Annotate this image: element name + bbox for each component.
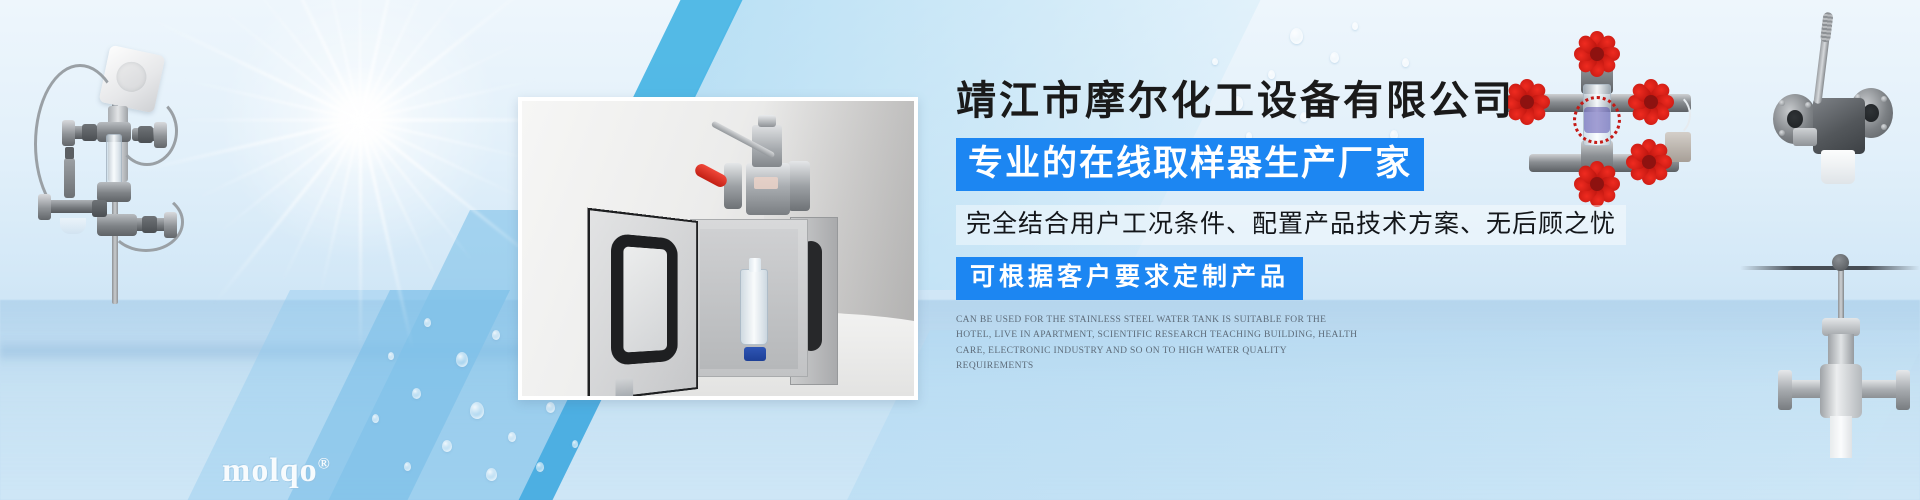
sampler-flange-4 (164, 212, 177, 238)
secondary-description: 完全结合用户工况条件、配置产品技术方案、无后顾之忧 (956, 205, 1626, 245)
sample-valve-body (1820, 364, 1862, 418)
lever-valve-bore-right (1863, 104, 1879, 122)
sampler-relief-valve (64, 158, 75, 198)
sampler-nut-2 (138, 126, 153, 143)
inline-sample-valve-graphic (1780, 258, 1920, 428)
valve-body (746, 163, 790, 215)
sampler-nut-1 (82, 124, 97, 141)
lever-valve-bolt-l2 (1805, 102, 1811, 108)
banner-text-block: 靖江市摩尔化工设备有限公司 专业的在线取样器生产厂家 完全结合用户工况条件、配置… (956, 78, 1716, 374)
valve-knob (758, 115, 776, 127)
lever-valve-body (1813, 98, 1865, 154)
company-name: 靖江市摩尔化工设备有限公司 (956, 78, 1716, 124)
handwheel-hub (1590, 47, 1604, 61)
sampler-nut-3 (92, 200, 107, 217)
sample-valve-outlet (1830, 416, 1852, 458)
lever-valve-bore-left (1787, 110, 1803, 128)
sampler-hub-lower (97, 214, 137, 236)
sample-valve-flange-left (1778, 370, 1792, 410)
primary-tagline-badge: 专业的在线取样器生产厂家 (956, 138, 1424, 191)
sampler-hub-mid (97, 182, 131, 202)
sample-valve-neck (1828, 334, 1854, 368)
lever-valve-bolt-r4 (1881, 124, 1887, 130)
sample-valve-knob (1832, 254, 1849, 271)
sampling-cabinet-photo (518, 97, 918, 400)
flanged-lever-valve-graphic (1763, 28, 1913, 208)
cabinet-door-window (611, 233, 678, 366)
promotional-banner: 靖江市摩尔化工设备有限公司 专业的在线取样器生产厂家 完全结合用户工况条件、配置… (0, 0, 1920, 500)
cabinet-door (588, 208, 698, 400)
sample-valve-shelf (1740, 266, 1920, 270)
top-sampling-valve (718, 119, 824, 231)
lever-valve-dial (1793, 128, 1817, 146)
lever-valve-cup (1821, 150, 1855, 184)
sampler-flange-3 (38, 194, 51, 220)
english-description: CAN BE USED FOR THE STAINLESS STEEL WATE… (956, 313, 1364, 375)
valve-flange-right (788, 161, 810, 211)
sample-valve-flange-right (1896, 370, 1910, 410)
sampler-nut-4 (142, 216, 157, 233)
sampler-flange-1 (62, 120, 75, 146)
pole-mounted-sampler-graphic (8, 22, 218, 302)
blue-cap (744, 347, 766, 361)
lever-valve-bolt-l3 (1779, 130, 1785, 136)
lever-valve-bolt-r2 (1881, 96, 1887, 102)
valve-flange-left (724, 163, 742, 209)
handwheel-top (1575, 32, 1619, 76)
cabinet-lock (616, 377, 634, 400)
brand-watermark: molqo® (222, 452, 331, 490)
customization-tagline-badge: 可根据客户要求定制产品 (956, 257, 1303, 300)
registered-mark-icon: ® (318, 456, 331, 473)
sample-bottle (740, 269, 768, 345)
sampler-flange-2 (154, 122, 167, 148)
valve-nameplate (754, 177, 778, 189)
watermark-text: molqo (222, 452, 318, 489)
sampler-collection-cup (60, 218, 86, 234)
lever-valve-bolt-l1 (1779, 100, 1785, 106)
